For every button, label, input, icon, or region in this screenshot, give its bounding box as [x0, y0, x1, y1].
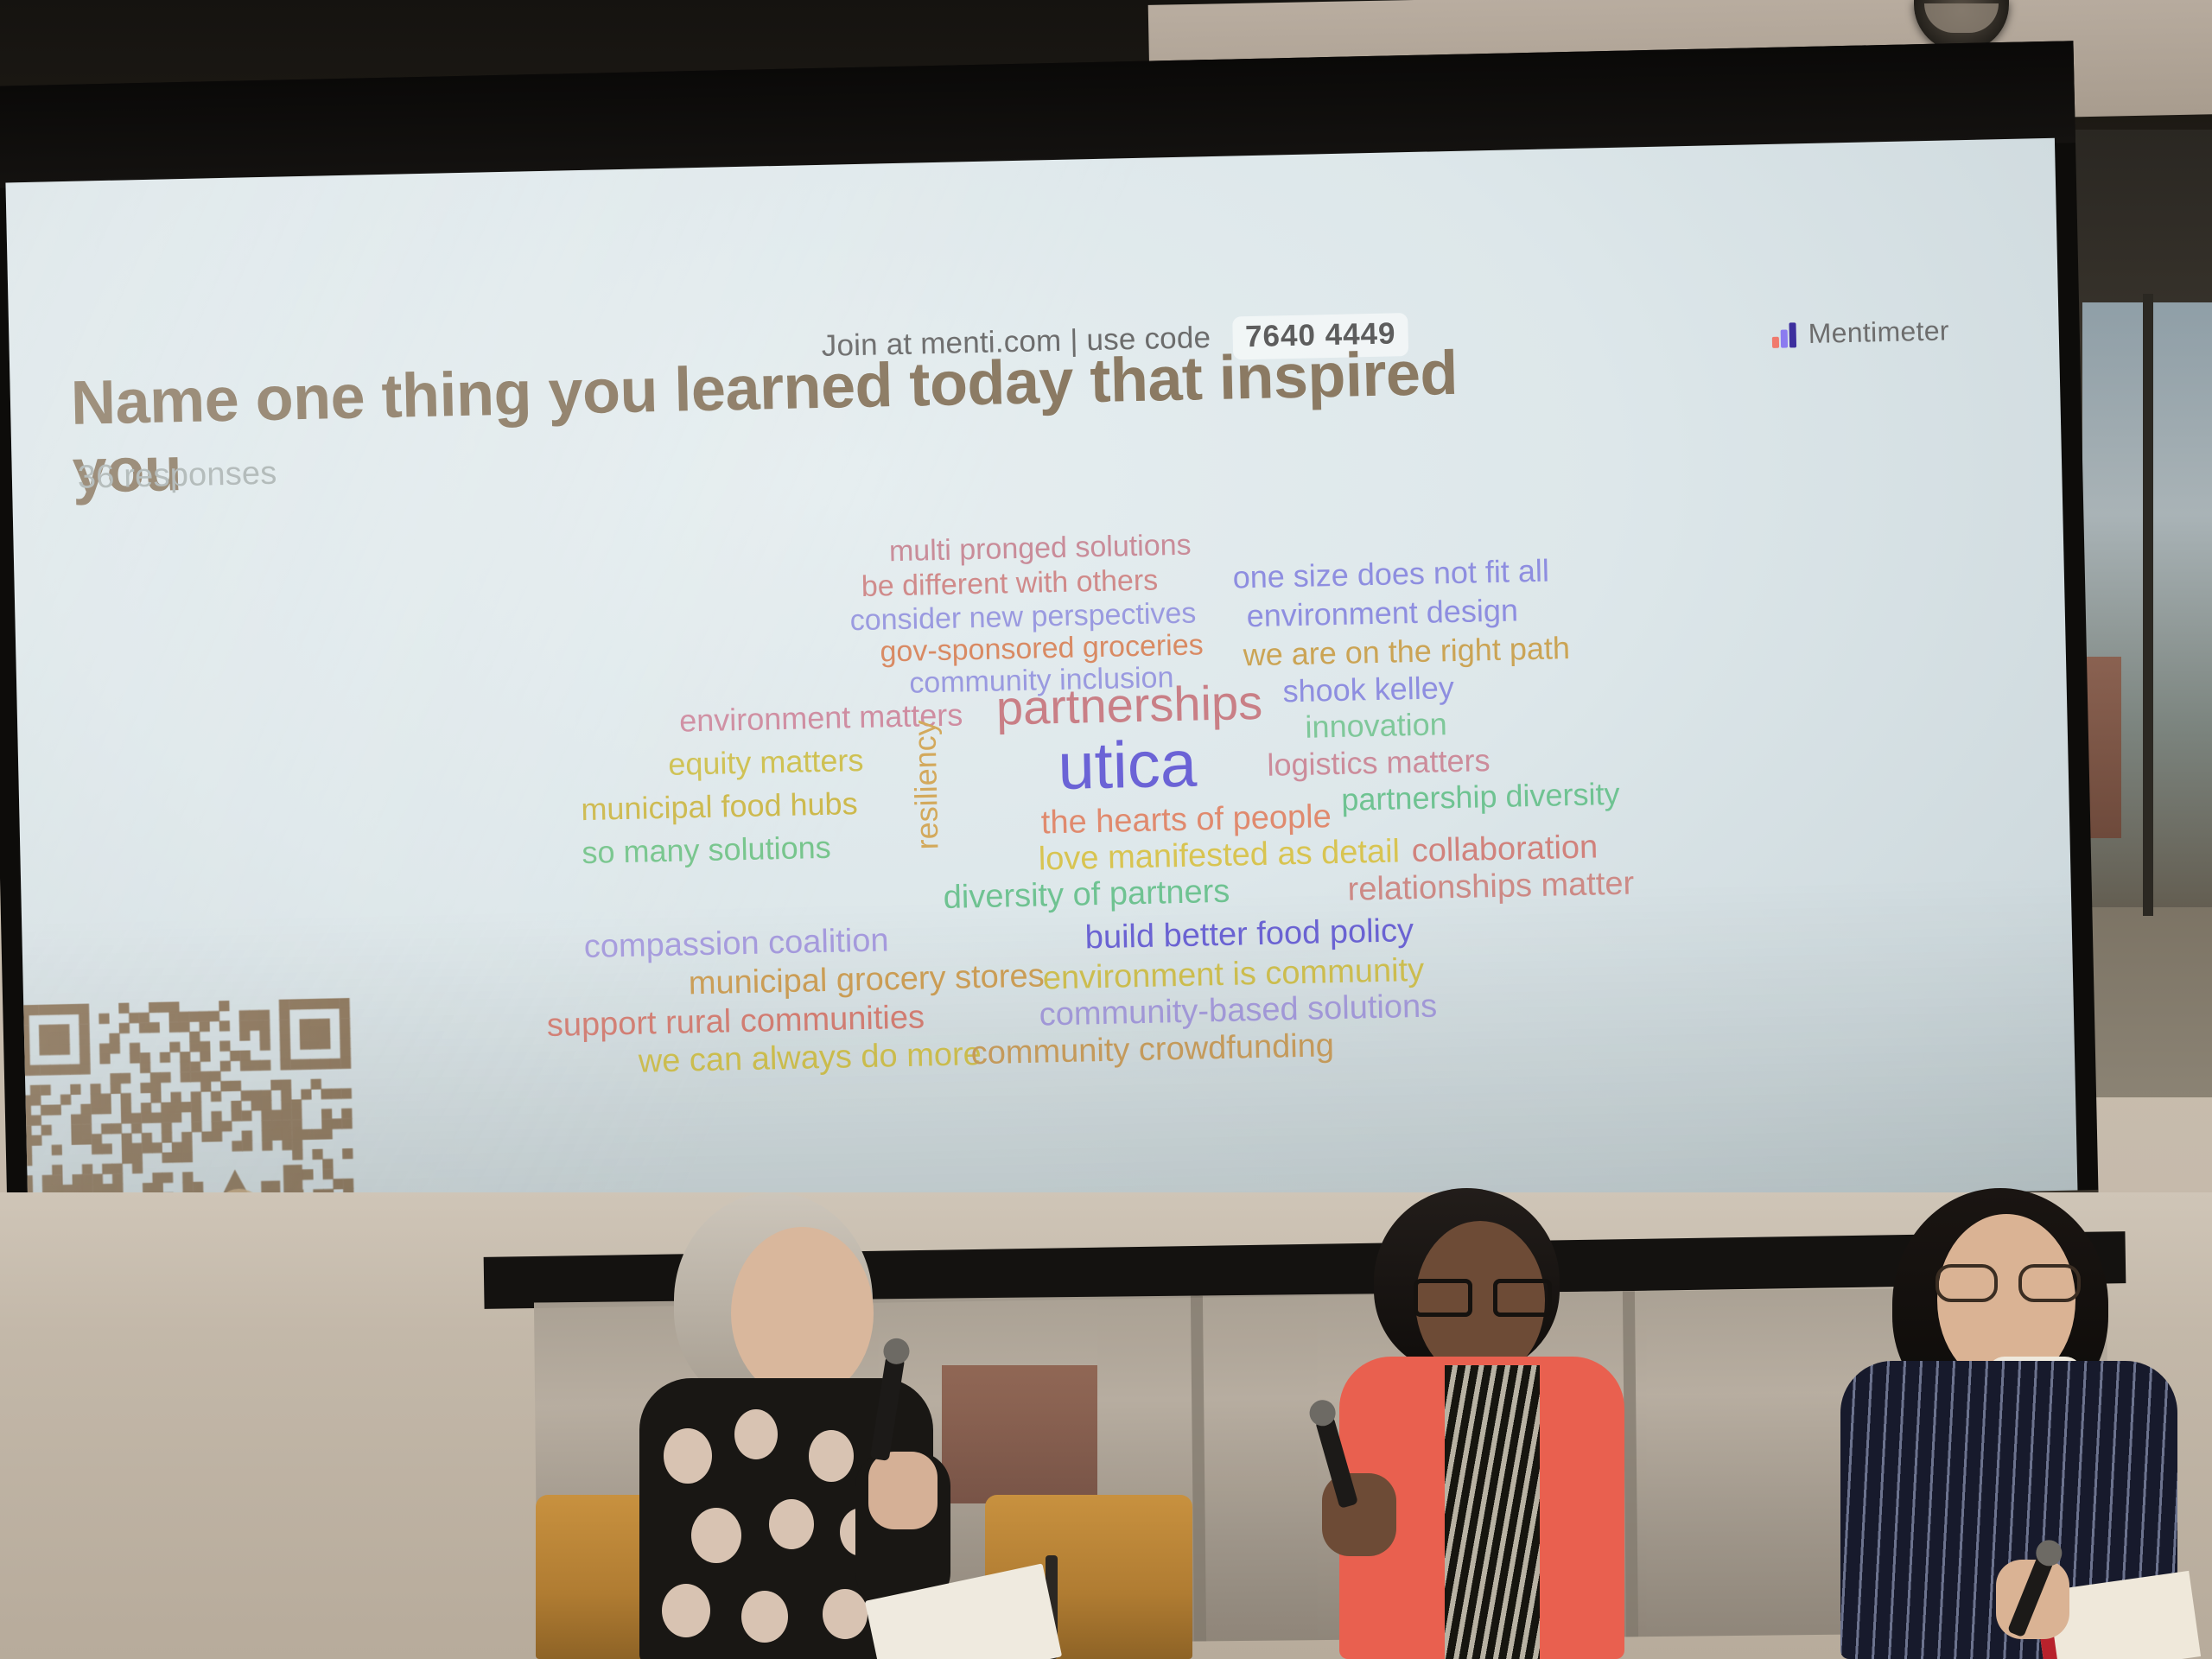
word-cloud-item: compassion coalition	[583, 924, 888, 963]
word-cloud-item: community crowdfunding	[970, 1029, 1334, 1070]
mentimeter-slide: Join at menti.com | use code 7640 4449 M…	[5, 138, 2077, 1236]
word-cloud-item: build better food policy	[1084, 914, 1414, 954]
striped-top	[1445, 1365, 1540, 1659]
window-mullion	[2143, 294, 2153, 916]
word-cloud-item: we are on the right path	[1243, 632, 1570, 671]
word-cloud-item: shook kelley	[1282, 672, 1454, 707]
word-cloud-item: one size does not fit all	[1232, 556, 1549, 594]
word-cloud-item: logistics matters	[1267, 745, 1491, 781]
word-cloud-item: so many solutions	[582, 832, 831, 868]
projection-screen: Join at menti.com | use code 7640 4449 M…	[0, 41, 2101, 1321]
word-cloud-item: utica	[1058, 732, 1198, 800]
word-cloud-item: the hearts of people	[1040, 800, 1332, 839]
word-cloud-item: diversity of partners	[943, 875, 1230, 914]
screenshot-stage: Join at menti.com | use code 7640 4449 M…	[0, 0, 2212, 1659]
word-cloud-item: support rural communities	[546, 1001, 925, 1042]
word-cloud-item: multi pronged solutions	[889, 531, 1192, 567]
panelist-right	[1892, 1188, 2212, 1659]
panelist-center	[1365, 1188, 1650, 1659]
word-cloud-item: partnerships	[995, 678, 1262, 733]
word-cloud-item: resiliency	[909, 720, 943, 850]
word-cloud-item: collaboration	[1411, 830, 1598, 868]
hand	[868, 1452, 938, 1529]
word-cloud-item: relationships matter	[1347, 868, 1634, 906]
glasses	[1935, 1264, 2075, 1295]
panelist-left	[657, 1192, 968, 1659]
word-cloud-item: community-based solutions	[1039, 990, 1437, 1032]
word-cloud-item: municipal grocery stores	[688, 959, 1045, 1000]
word-cloud-item: innovation	[1305, 709, 1447, 743]
word-cloud-item: be different with others	[861, 565, 1159, 601]
face	[731, 1227, 874, 1400]
word-cloud-item: love manifested as detail	[1038, 835, 1400, 875]
word-cloud-item: environment design	[1246, 594, 1518, 632]
word-cloud-item: equity matters	[668, 745, 864, 780]
screen-surface: Join at menti.com | use code 7640 4449 M…	[5, 138, 2077, 1236]
word-cloud-item: partnership diversity	[1341, 779, 1620, 816]
panel-foreground	[0, 1192, 2212, 1659]
glasses	[1414, 1279, 1543, 1308]
word-cloud-item: municipal food hubs	[581, 788, 858, 825]
word-cloud-item: we can always do more	[638, 1038, 982, 1078]
